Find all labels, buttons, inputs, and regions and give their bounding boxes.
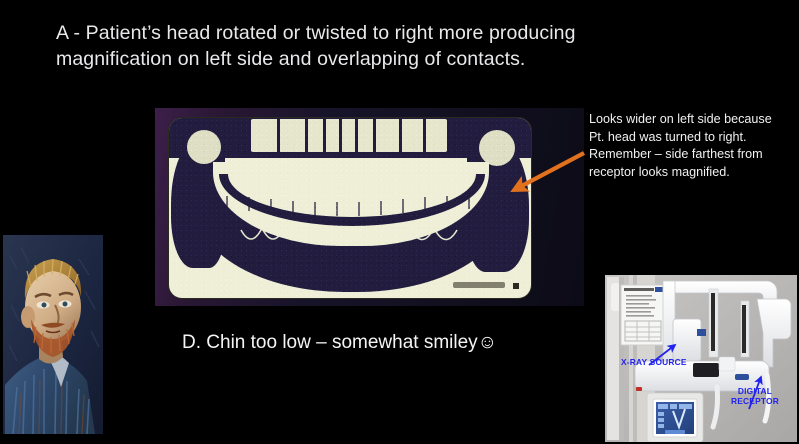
slide-caption: D. Chin too low – somewhat smiley☺	[182, 330, 497, 356]
film-corner-mark	[513, 283, 519, 289]
panoramic-machine-image: X-RAY SOURCE DIGITAL RECEPTOR	[605, 275, 797, 442]
film-grain	[169, 118, 531, 298]
xray-film	[169, 118, 531, 298]
film-signature-mark	[453, 282, 505, 288]
slide-title: A - Patient’s head rotated or twisted to…	[56, 20, 676, 72]
slide-canvas: A - Patient’s head rotated or twisted to…	[0, 0, 799, 444]
x-ray-source-label: X-RAY SOURCE	[621, 357, 687, 367]
van-gogh-portrait-image	[3, 235, 103, 434]
panoramic-xray-image	[155, 108, 584, 306]
digital-receptor-label: DIGITAL RECEPTOR	[731, 386, 779, 406]
annotation-text: Looks wider on left side because Pt. hea…	[589, 111, 789, 181]
